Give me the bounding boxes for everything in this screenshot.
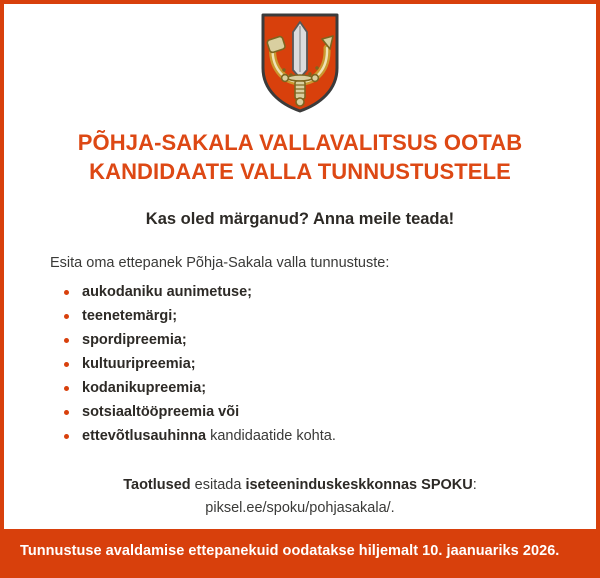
award-name: sotsiaaltööpreemia või bbox=[82, 404, 239, 420]
page-title-line-2: KANDIDAATE VALLA TUNNUSTUSTELE bbox=[44, 157, 556, 186]
application-instructions: Taotlused esitada iseteeninduskeskkonnas… bbox=[4, 474, 596, 521]
apply-bold-applications: Taotlused bbox=[123, 477, 190, 493]
award-name: kultuuripreemia; bbox=[82, 356, 196, 372]
list-item: sotsiaaltööpreemia või bbox=[50, 400, 550, 424]
deadline-footer-bar: Tunnustuse avaldamise ettepanekuid oodat… bbox=[4, 529, 596, 574]
award-name: kodanikupreemia; bbox=[82, 380, 206, 396]
apply-bold-portal: iseteeninduskeskkonnas SPOKU bbox=[245, 477, 472, 493]
intro-text: Esita oma ettepanek Põhja-Sakala valla t… bbox=[50, 254, 550, 274]
award-suffix: kandidaatide kohta. bbox=[206, 428, 336, 444]
body-block: Esita oma ettepanek Põhja-Sakala valla t… bbox=[4, 254, 596, 448]
crest-area bbox=[4, 4, 596, 114]
pohja-sakala-coat-of-arms-icon bbox=[260, 12, 340, 114]
award-name: teenetemärgi; bbox=[82, 308, 177, 324]
spoku-url[interactable]: piksel.ee/spoku/pohjasakala/. bbox=[44, 497, 556, 520]
award-name: spordipreemia; bbox=[82, 332, 187, 348]
page-title: PÕHJA-SAKALA VALLAVALITSUS OOTAB KANDIDA… bbox=[4, 128, 596, 187]
award-name: aukodaniku aunimetuse; bbox=[82, 284, 252, 300]
announcement-poster: PÕHJA-SAKALA VALLAVALITSUS OOTAB KANDIDA… bbox=[0, 0, 600, 578]
apply-plain-submit: esitada bbox=[191, 477, 246, 493]
list-item: kodanikupreemia; bbox=[50, 376, 550, 400]
list-item: teenetemärgi; bbox=[50, 304, 550, 328]
award-name: ettevõtlusauhinna bbox=[82, 428, 206, 444]
page-title-line-1: PÕHJA-SAKALA VALLAVALITSUS OOTAB bbox=[44, 128, 556, 157]
page-subtitle: Kas oled märganud? Anna meile teada! bbox=[4, 209, 596, 230]
list-item: ettevõtlusauhinna kandidaatide kohta. bbox=[50, 424, 550, 448]
award-list: aukodaniku aunimetuse; teenetemärgi; spo… bbox=[50, 280, 550, 448]
layout-spacer bbox=[4, 520, 596, 528]
list-item: aukodaniku aunimetuse; bbox=[50, 280, 550, 304]
apply-plain-colon: : bbox=[473, 477, 477, 493]
list-item: spordipreemia; bbox=[50, 328, 550, 352]
list-item: kultuuripreemia; bbox=[50, 352, 550, 376]
